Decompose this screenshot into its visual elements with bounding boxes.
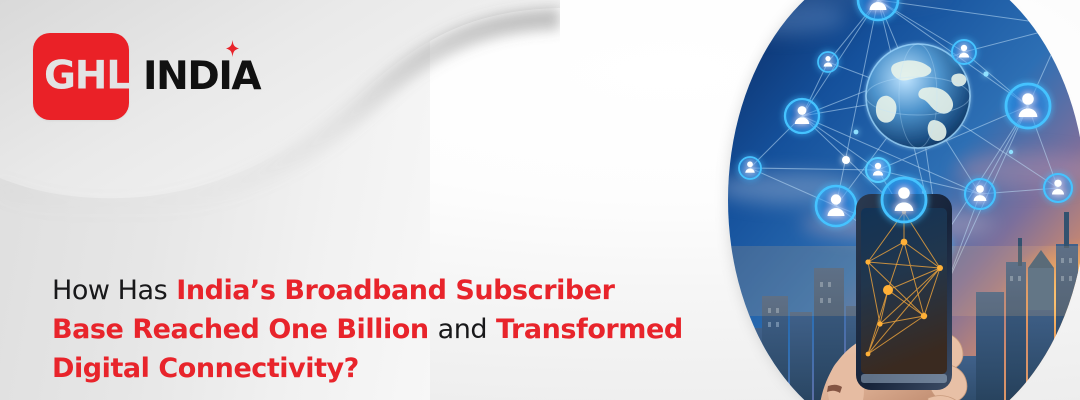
- promo-banner: GHL INDIA How Has India’s Broadband Subs…: [0, 0, 1080, 400]
- headline-plain-2: and: [438, 314, 487, 345]
- network-node-user-icon: [785, 99, 819, 133]
- headline-accent-3: Transformed: [496, 314, 683, 345]
- hero-illustration: [728, 0, 1080, 400]
- logo-india-wrap: INDIA: [143, 57, 260, 96]
- four-point-star-icon: [226, 40, 239, 57]
- network-node-user-icon: [1006, 84, 1050, 128]
- hero-image: [728, 0, 1080, 400]
- network-node-user-icon: [1044, 174, 1072, 202]
- network-node-user-icon: [816, 186, 856, 226]
- headline-plain-1: How Has: [52, 275, 167, 306]
- logo-india-text: INDIA: [143, 57, 260, 96]
- network-node-user-icon: [818, 52, 838, 72]
- brand-logo[interactable]: GHL INDIA: [33, 31, 260, 121]
- logo-badge: GHL: [33, 33, 129, 120]
- network-node-user-icon: [882, 178, 926, 222]
- headline-accent-4: Digital Connectivity?: [52, 353, 359, 384]
- headline: How Has India’s Broadband Subscriber Bas…: [52, 271, 692, 388]
- headline-accent-2: Reached One Billion: [132, 314, 428, 345]
- smartphone: [856, 178, 952, 390]
- network-node-user-icon: [965, 179, 995, 209]
- logo-ghl-text: GHL: [44, 57, 130, 96]
- network-node-user-icon: [739, 157, 761, 179]
- network-node-user-icon: [866, 158, 890, 182]
- network-node-user-icon: [952, 40, 976, 64]
